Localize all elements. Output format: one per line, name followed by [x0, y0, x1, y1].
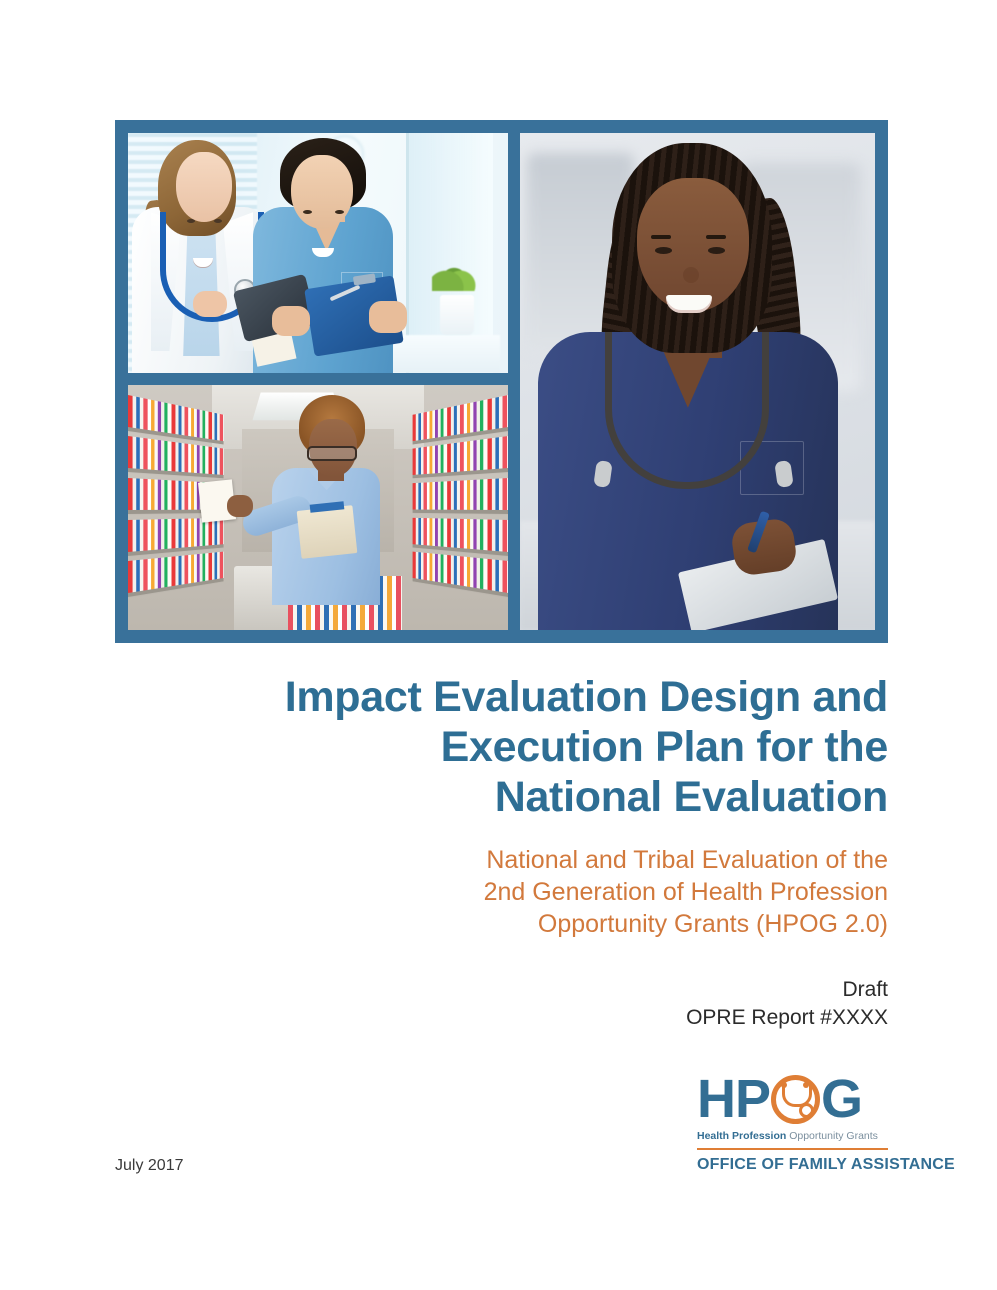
male-clinician-face	[291, 155, 353, 229]
stethoscope-nub-left	[781, 1082, 787, 1088]
photo-collage-frame	[115, 120, 888, 643]
eyeglasses-icon	[307, 446, 357, 461]
hpog-wordmark: HP G	[697, 1073, 888, 1125]
title-line-1: Impact Evaluation Design and	[285, 673, 888, 721]
held-folder	[297, 505, 358, 559]
nurse-eyebrow-left	[651, 235, 671, 239]
logo-divider	[697, 1148, 888, 1150]
page-subtitle: National and Tribal Evaluation of the 2n…	[115, 844, 888, 940]
female-clinician-hand	[193, 291, 227, 317]
stethoscope-bell	[799, 1103, 814, 1118]
title-line-3: National Evaluation	[495, 773, 888, 821]
publication-date: July 2017	[115, 1157, 184, 1175]
subtitle-line-3: Opportunity Grants (HPOG 2.0)	[538, 910, 888, 938]
male-clinician-eye-right	[335, 210, 344, 214]
nurse-smile	[666, 295, 712, 313]
records-clerk-hand	[227, 495, 253, 517]
nurse-eyebrow-right	[706, 235, 726, 239]
subtitle-line-1: National and Tribal Evaluation of the	[486, 846, 888, 874]
tagline-light: Opportunity Grants	[789, 1130, 878, 1142]
plant-leaves	[432, 257, 478, 291]
tagline-bold: Health Profession	[697, 1130, 786, 1142]
office-of-family-assistance-label: OFFICE OF FAMILY ASSISTANCE	[697, 1156, 888, 1174]
report-number: OPRE Report #XXXX	[686, 1006, 888, 1029]
cover-text-block: Impact Evaluation Design and Execution P…	[115, 672, 888, 1032]
draft-label: Draft	[842, 978, 888, 1001]
male-clinician-eye-left	[303, 210, 312, 214]
photo-clinicians	[128, 133, 508, 373]
male-clinician-hand-right	[369, 301, 407, 333]
photo-collage-grid	[128, 133, 875, 630]
male-clinician-hand-left	[272, 306, 310, 336]
page-title: Impact Evaluation Design and Execution P…	[115, 672, 888, 822]
logo-letters-hp: HP	[697, 1072, 770, 1126]
clinic-counter	[386, 335, 500, 373]
nurse-stethoscope-icon	[605, 332, 769, 489]
nurse-face	[637, 178, 749, 312]
hpog-tagline: Health Profession Opportunity Grants	[697, 1130, 888, 1143]
photo-nurse	[520, 133, 875, 630]
subtitle-line-2: 2nd Generation of Health Profession	[484, 878, 888, 906]
hpog-logo: HP G Health Profession Opportunity Grant…	[697, 1073, 888, 1174]
cover-page: Impact Evaluation Design and Execution P…	[0, 0, 997, 1290]
report-meta: Draft OPRE Report #XXXX	[115, 976, 888, 1032]
logo-letter-g: G	[821, 1072, 862, 1126]
stethoscope-nub-right	[803, 1082, 809, 1088]
shelf-bank-right	[412, 385, 508, 630]
stethoscope-o-icon	[771, 1075, 820, 1124]
photo-medical-records	[128, 385, 508, 630]
title-line-2: Execution Plan for the	[441, 723, 888, 771]
plant-pot	[440, 295, 474, 335]
